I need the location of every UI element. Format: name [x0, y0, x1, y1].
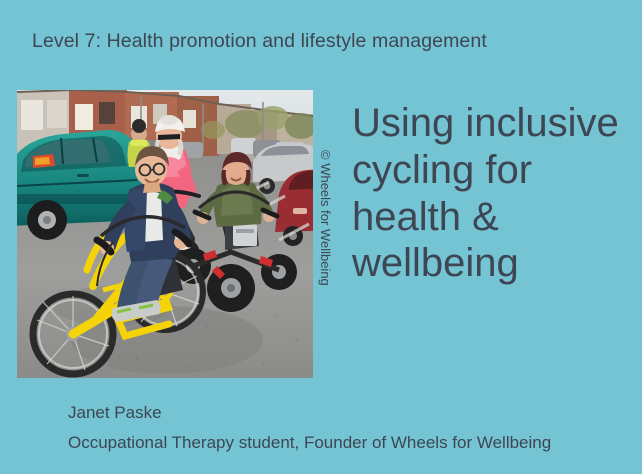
photo-illustration [17, 90, 313, 378]
inclusive-cycling-photo [17, 90, 313, 378]
slide-main-title: Using inclusive cycling for health & wel… [352, 100, 632, 287]
author-name: Janet Paske [68, 403, 162, 423]
photo-credit-vertical: © Wheels for Wellbeing [318, 150, 334, 340]
author-role: Occupational Therapy student, Founder of… [68, 433, 551, 453]
photo-credit-text: © Wheels for Wellbeing [319, 150, 332, 286]
slide-header-title: Level 7: Health promotion and lifestyle … [32, 30, 487, 53]
slide-canvas: Level 7: Health promotion and lifestyle … [0, 0, 642, 474]
